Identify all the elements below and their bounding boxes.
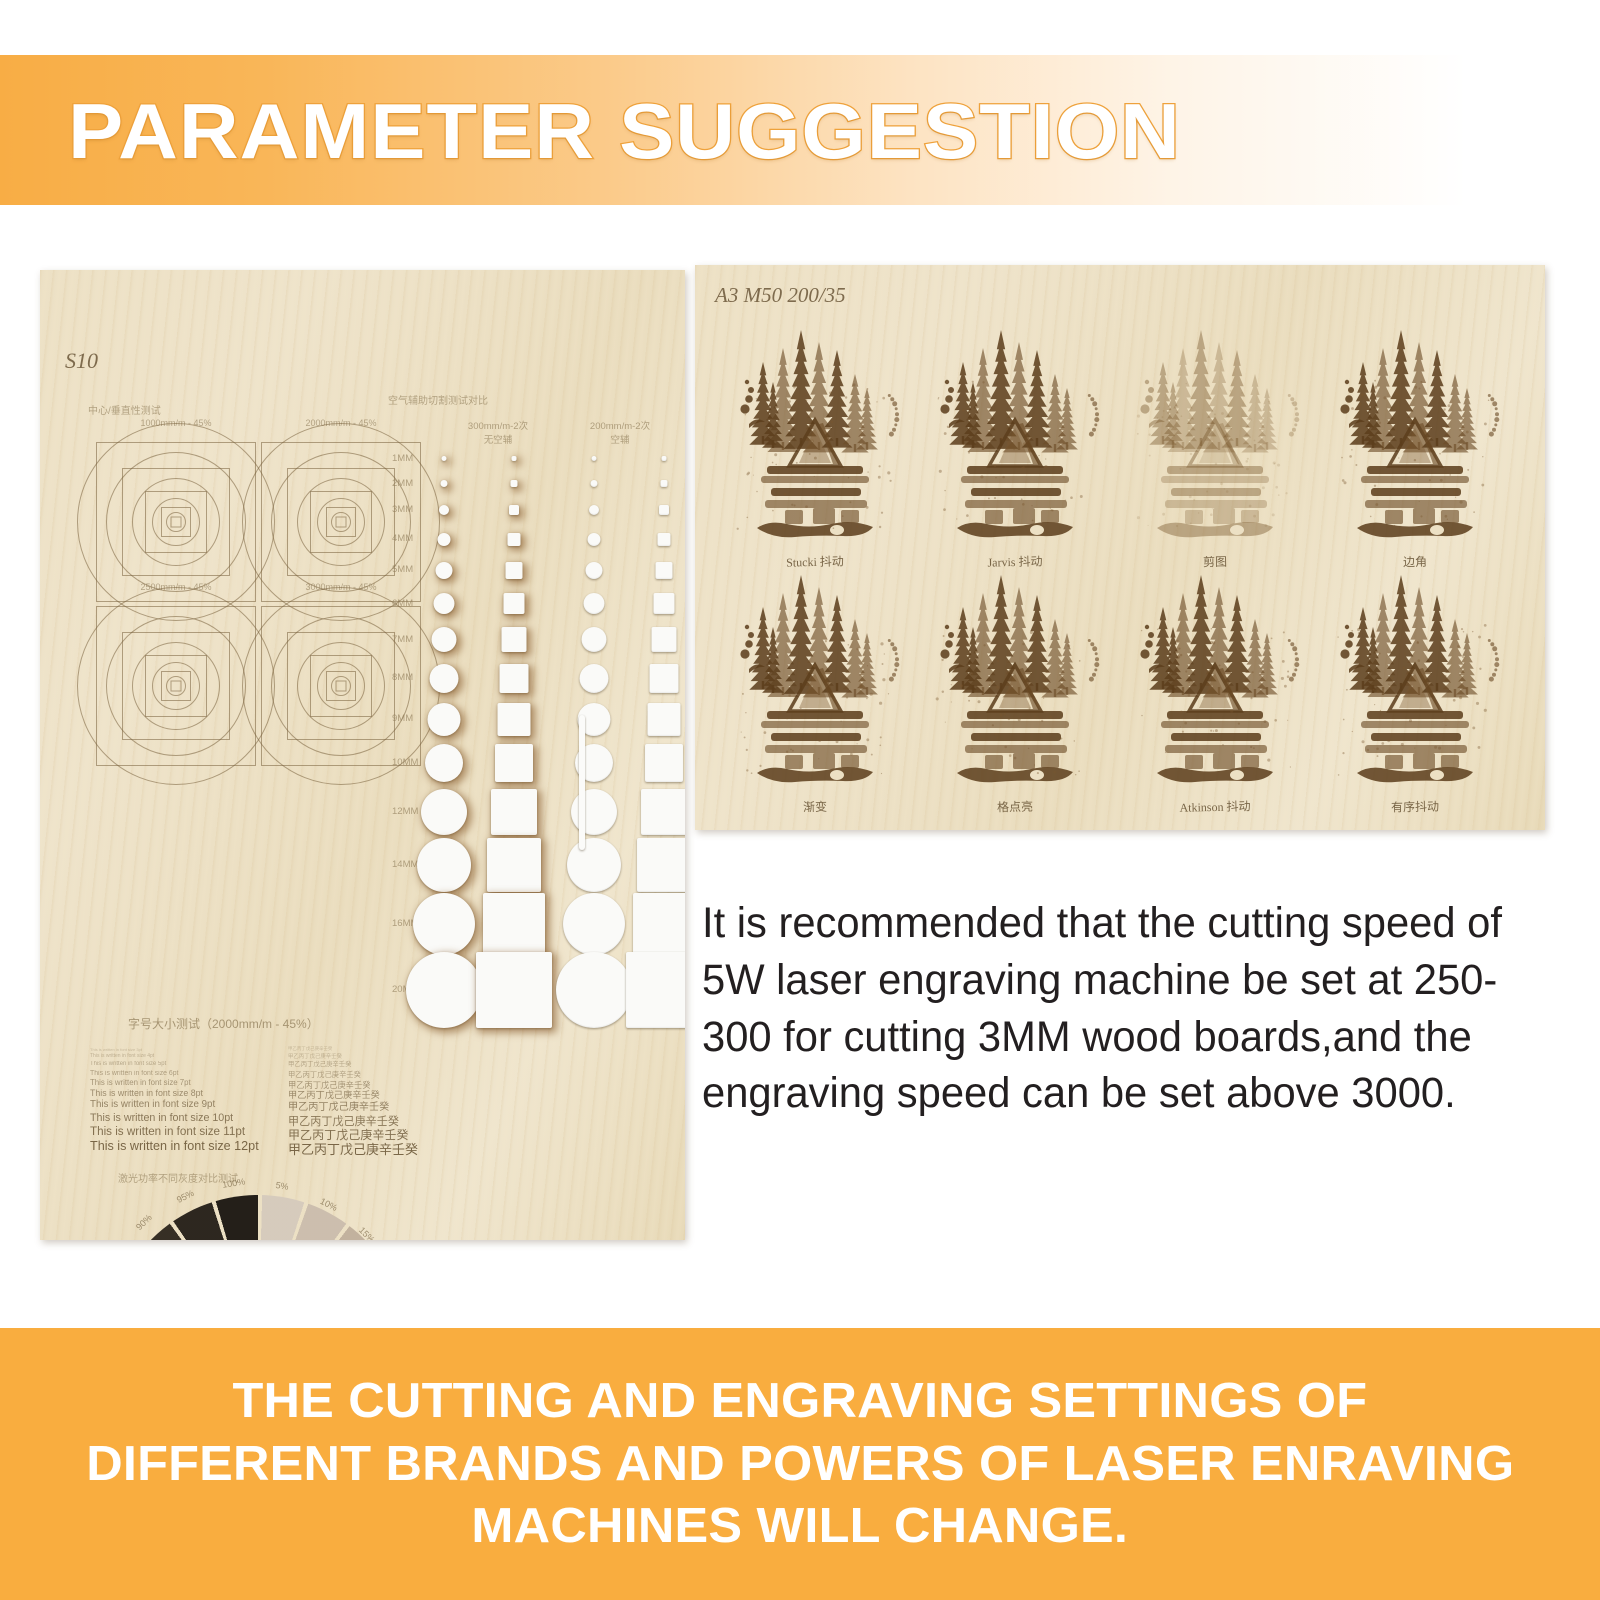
- hole-section-title: 空气辅助切割测试对比: [388, 392, 488, 407]
- right-engraving-board: A3 M50 200/35 Stucki 抖动Jarvis 抖动剪图边角渐变格点…: [695, 265, 1545, 830]
- cutout-circle: [588, 533, 601, 546]
- cutout-square: [652, 627, 677, 652]
- cutout-circle: [425, 744, 463, 782]
- cutout-circle: [580, 664, 609, 693]
- fontsize-sample-en: This is written in font size 7pt: [90, 1079, 320, 1087]
- fontsize-sample-cn: 甲乙丙丁戊己庚辛壬癸: [288, 1081, 488, 1090]
- engraving-sample: Jarvis 抖动: [927, 320, 1103, 548]
- cutout-square: [498, 703, 531, 736]
- cutout-square: [659, 505, 669, 515]
- cutout-square: [495, 744, 533, 782]
- fontsize-sample-en: This is written in font size 12pt: [90, 1140, 320, 1153]
- engraving-artwork: [1127, 320, 1303, 548]
- cutout-circle: [413, 893, 475, 955]
- wheel-power-label: 5%: [275, 1180, 289, 1192]
- box: [171, 517, 182, 528]
- hole-column-circle-air: [565, 450, 623, 1110]
- wheel-power-label: 100%: [221, 1176, 245, 1189]
- hole-column-square-air: [635, 450, 685, 1110]
- engraving-sample: 渐变: [727, 565, 903, 793]
- hole-size-label: 5MM: [392, 564, 413, 575]
- wheel-section-title: 激光功率不同灰度对比测试: [118, 1170, 238, 1185]
- box: [336, 517, 347, 528]
- cutout-square: [633, 893, 685, 955]
- box: [171, 681, 182, 692]
- cutout-circle: [586, 562, 603, 579]
- fontsize-test-chinese-column: 甲乙丙丁戊己庚辛壬癸甲乙丙丁戊己庚辛壬癸甲乙丙丁戊己庚辛壬癸甲乙丙丁戊己庚辛壬癸…: [288, 1048, 488, 1160]
- engraving-artwork: [927, 320, 1103, 548]
- fontsize-sample-en: This is written in font size 5pt: [90, 1061, 320, 1067]
- engraving-sample: 格点亮: [927, 565, 1103, 793]
- cutout-square: [512, 456, 517, 461]
- nested-section-title: 中心/垂直性测试: [88, 402, 161, 417]
- cutout-square: [648, 703, 681, 736]
- cutout-circle: [406, 952, 482, 1028]
- hole-column-circle-no-air: [415, 450, 473, 1110]
- fontsize-sample-cn: 甲乙丙丁戊己庚辛壬癸: [288, 1071, 488, 1079]
- cutout-circle: [591, 480, 598, 487]
- hole-size-label: 2MM: [392, 478, 413, 489]
- engraving-artwork: [1127, 565, 1303, 793]
- engraving-sample-label: 格点亮: [997, 798, 1033, 816]
- cutout-circle: [436, 562, 453, 579]
- wheel-power-label: 95%: [175, 1187, 196, 1204]
- cutout-square: [508, 533, 521, 546]
- fontsize-sample-cn: 甲乙丙丁戊己庚辛壬癸: [288, 1144, 488, 1158]
- footer-line-3: MACHINES WILL CHANGE.: [472, 1495, 1129, 1558]
- cutout-square: [661, 480, 668, 487]
- fontsize-test-english-column: This is written in font size 3ptThis is …: [90, 1048, 320, 1155]
- cutout-square: [626, 952, 685, 1028]
- hole-col-1-head-line2: 无空辅: [438, 432, 558, 446]
- cutout-square: [637, 838, 685, 892]
- engraving-sample-label: 渐变: [803, 798, 827, 815]
- engraving-artwork: [1327, 565, 1503, 793]
- fontsize-sample-cn: 甲乙丙丁戊己庚辛壬癸: [288, 1062, 488, 1069]
- fontsize-sample-cn: 甲乙丙丁戊己庚辛壬癸: [288, 1048, 488, 1053]
- hole-size-label: 1MM: [392, 453, 413, 464]
- engraving-artwork: [727, 565, 903, 793]
- engraving-sample: Atkinson 抖动: [1127, 565, 1303, 793]
- cutout-square: [662, 456, 667, 461]
- hole-column-square-no-air: [485, 450, 543, 1110]
- cutout-circle: [417, 838, 471, 892]
- hole-size-label: 4MM: [392, 533, 413, 544]
- cutout-square: [509, 505, 519, 515]
- cutout-circle: [421, 789, 467, 835]
- recommendation-paragraph: It is recommended that the cutting speed…: [702, 895, 1507, 1122]
- engraving-sample: 剪图: [1127, 320, 1303, 548]
- engraving-artwork: [1327, 320, 1503, 548]
- engraving-sample: 边角: [1327, 320, 1503, 548]
- cutout-square: [645, 744, 683, 782]
- cutout-square: [502, 627, 527, 652]
- fontsize-sample-cn: 甲乙丙丁戊己庚辛壬癸: [288, 1116, 488, 1128]
- fontsize-sample-cn: 甲乙丙丁戊己庚辛壬癸: [288, 1055, 488, 1061]
- cutout-square: [483, 893, 545, 955]
- cutout-square: [476, 952, 552, 1028]
- hole-col-3-head-line2: 空辅: [560, 432, 680, 446]
- footer-line-1: THE CUTTING AND ENGRAVING SETTINGS OF: [233, 1370, 1368, 1433]
- cutout-circle: [556, 952, 632, 1028]
- cutout-circle: [442, 456, 447, 461]
- engraving-sample: 有序抖动: [1327, 565, 1503, 793]
- cutout-square: [491, 789, 537, 835]
- fontsize-sample-en: This is written in font size 6pt: [90, 1070, 320, 1077]
- fontsize-sample-en: This is written in font size 11pt: [90, 1126, 320, 1138]
- hole-col-1-head-line1: 300mm/m-2次: [438, 418, 558, 432]
- cutout-circle: [438, 533, 451, 546]
- hole-size-label: 3MM: [392, 504, 413, 515]
- cutout-circle: [582, 627, 607, 652]
- cutout-circle: [441, 480, 448, 487]
- fontsize-sample-cn: 甲乙丙丁戊己庚辛壬癸: [288, 1129, 488, 1142]
- power-grayscale-wheel: 3000mm/m 1次 5%10%15%20%25%30%35%40%45%50…: [108, 1195, 408, 1240]
- fontsize-sample-en: This is written in font size 9pt: [90, 1100, 320, 1110]
- fontsize-sample-cn: 甲乙丙丁戊己庚辛壬癸: [288, 1091, 488, 1101]
- fontsize-sample-en: This is written in font size 10pt: [90, 1113, 320, 1124]
- cutout-square: [506, 562, 523, 579]
- cutout-square: [656, 562, 673, 579]
- footer-banner: THE CUTTING AND ENGRAVING SETTINGS OF DI…: [0, 1328, 1600, 1600]
- cutout-square: [504, 593, 525, 614]
- cutout-circle: [584, 593, 605, 614]
- fontsize-test-title: 字号大小测试（2000mm/m - 45%）: [128, 1015, 319, 1032]
- fontsize-sample-cn: 甲乙丙丁戊己庚辛壬癸: [288, 1103, 488, 1114]
- cutout-square: [641, 789, 685, 835]
- right-board-hand-note: A3 M50 200/35: [715, 283, 846, 308]
- cutout-circle: [571, 789, 617, 835]
- footer-line-2: DIFFERENT BRANDS AND POWERS OF LASER ENR…: [86, 1433, 1514, 1496]
- cutout-circle: [567, 838, 621, 892]
- rectangular-slot-cutout: [579, 715, 585, 850]
- cutout-circle: [432, 627, 457, 652]
- cutout-square: [500, 664, 529, 693]
- left-test-board: S10 中心/垂直性测试 1000mm/m - 45% 2000mm/m - 4…: [40, 270, 685, 1240]
- hole-col-3-head-line1: 200mm/m-2次: [560, 418, 680, 432]
- cutout-circle: [430, 664, 459, 693]
- hole-size-label: 7MM: [392, 634, 413, 645]
- cutout-circle: [589, 505, 599, 515]
- cutout-circle: [428, 703, 461, 736]
- hole-size-label: 9MM: [392, 713, 413, 724]
- cutout-circle: [563, 893, 625, 955]
- engraving-sample-label: Atkinson 抖动: [1179, 797, 1250, 815]
- cutout-square: [658, 533, 671, 546]
- cutout-circle: [592, 456, 597, 461]
- page-title: PARAMETER SUGGESTION: [68, 86, 1181, 177]
- box: [336, 681, 347, 692]
- cutout-square: [511, 480, 518, 487]
- engraving-artwork: [727, 320, 903, 548]
- hole-size-label: 8MM: [392, 672, 413, 683]
- wheel-power-label: 90%: [134, 1213, 154, 1233]
- left-board-hand-note: S10: [65, 348, 98, 374]
- engraving-sample: Stucki 抖动: [727, 320, 903, 548]
- engraving-artwork: [927, 565, 1103, 793]
- cutout-circle: [434, 593, 455, 614]
- cutout-square: [654, 593, 675, 614]
- fontsize-sample-en: This is written in font size 4pt: [90, 1054, 320, 1059]
- fontsize-sample-en: This is written in font size 8pt: [90, 1089, 320, 1098]
- fontsize-sample-en: This is written in font size 3pt: [90, 1048, 320, 1052]
- hole-size-label: 6MM: [392, 598, 413, 609]
- engraving-sample-label: 有序抖动: [1391, 797, 1439, 815]
- cutout-square: [487, 838, 541, 892]
- cutout-circle: [439, 505, 449, 515]
- cutout-square: [650, 664, 679, 693]
